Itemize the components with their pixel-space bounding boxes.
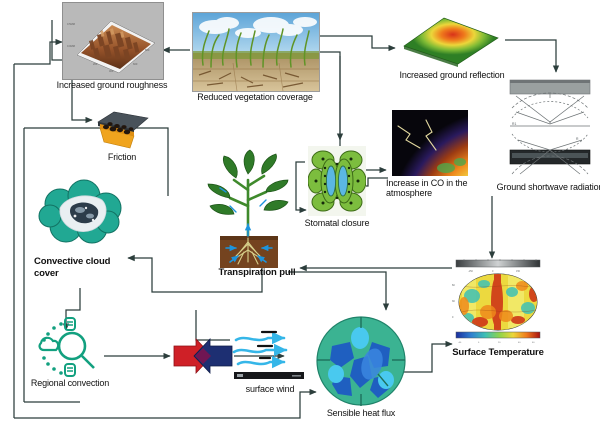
svg-text:60: 60 [452,284,455,287]
node-transpiration-pull[interactable]: Transpiration pull [196,144,300,268]
earth-limb-atmosphere-photo-icon [392,110,468,176]
label-sensible-heat-flux: Sensible heat flux [318,408,404,418]
svg-text:60: 60 [532,342,535,344]
label-ground-roughness: Increased ground roughness [50,80,174,90]
label-surface-wind: surface wind [236,384,304,394]
svg-text:0.5MM: 0.5MM [67,22,75,26]
label-ground-reflection: Increased ground reflection [392,70,512,80]
node-sensible-heat-flux[interactable]: Sensible heat flux [316,316,406,408]
svg-text:-150: -150 [468,270,473,273]
node-temperature-gradient-arrows[interactable] [172,336,234,376]
magnifier-cloud-thermometer-icon [32,316,108,378]
svg-text:0: 0 [492,270,494,273]
albedo-surface-plot-icon [398,12,504,68]
svg-text:40: 40 [518,342,521,344]
svg-text:150: 150 [516,270,521,273]
node-convective-cloud-cover[interactable]: Convective cloud cover [36,178,130,254]
node-co2-atmosphere[interactable]: Increase in CO in the atmosphere [392,110,468,176]
cloud-cover-icon [36,178,130,254]
label-transpiration-pull: Transpiration pull [210,268,304,278]
label-reduced-vegetation: Reduced vegetation coverage [184,92,326,102]
node-ground-roughness[interactable]: 0.5MM0.0MM 200400 600800 Increased groun… [62,2,164,80]
label-shortwave-radiation: Ground shortwave radiation [496,182,600,192]
svg-text:400: 400 [109,69,114,73]
label-stomatal-closure: Stomatal closure [296,218,378,228]
label-surface-temperature: Surface Temperature [446,348,550,358]
node-ground-reflection[interactable]: Increased ground reflection [398,12,504,68]
label-friction: Friction [96,152,148,162]
ray-optics-grayscale-diagram-icon: R1SR [506,78,594,180]
node-surface-temperature[interactable]: -1500150 [450,256,546,346]
svg-text:30: 30 [452,300,455,303]
soil-roughness-3d-surface-plot-icon: 0.5MM0.0MM 200400 600800 [62,2,164,80]
svg-text:800: 800 [145,48,150,52]
stomata-guard-cells-illustration-icon [308,146,366,216]
svg-text:R1: R1 [512,122,516,126]
label-regional-convection: Regional convection [18,378,122,388]
svg-text:0: 0 [452,316,454,319]
wind-streamlines-icon [230,330,310,382]
svg-text:S: S [549,121,552,125]
svg-text:600: 600 [133,62,138,66]
svg-text:20: 20 [498,342,501,344]
node-friction[interactable]: Friction [94,110,150,150]
node-surface-wind[interactable]: surface wind [230,330,310,382]
dry-cracked-field-photo-icon [192,12,320,92]
plant-roots-soil-illustration-icon [196,144,300,268]
heat-flux-circle-icon [316,316,406,408]
svg-text:R: R [576,137,579,141]
node-regional-convection[interactable]: Regional convection [32,316,108,378]
svg-text:-40: -40 [458,342,462,344]
svg-text:0.0MM: 0.0MM [67,44,75,48]
diagram-canvas: 0.5MM0.0MM 200400 600800 Increased groun… [0,0,600,438]
svg-text:0: 0 [478,342,480,344]
node-stomatal-closure[interactable]: Stomatal closure [308,146,366,216]
label-convective-cloud-cover: Convective cloud cover [34,256,132,280]
global-temperature-map-icon: -1500150 [450,256,546,346]
svg-text:200: 200 [93,62,98,66]
label-co2-atmosphere: Increase in CO in the atmosphere [386,178,476,198]
node-shortwave-radiation[interactable]: R1SR Ground shortwave radiation [506,78,594,180]
node-reduced-vegetation[interactable]: Reduced vegetation coverage [192,12,320,92]
red-blue-opposing-arrows-icon [172,336,234,376]
surface-friction-block-icon [94,110,150,150]
